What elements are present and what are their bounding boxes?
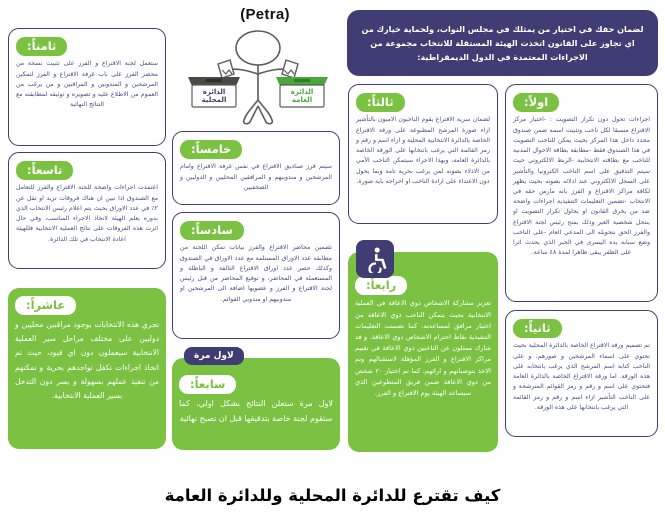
card-ninth[interactable]: تاسعاً: اعتمدت اجراءات واضحة للجنة الاقت…	[8, 152, 166, 269]
card-fifth[interactable]: خامساً: سيتم فرز صناديق الاقتراع في نفس …	[172, 131, 340, 205]
card-fifth-text: سيتم فرز صناديق الاقتراع في نفس غرفة الا…	[180, 162, 332, 193]
card-fifth-chip: خامساً:	[180, 140, 242, 159]
card-first-chip: اولاً:	[513, 93, 559, 112]
card-third-text: لضمان سرية الاقتراع يقوم الناخبون الاميو…	[356, 115, 490, 187]
card-seventh-text: لاول مرة ستعلن النتائج بشكل اولي، كما ست…	[179, 397, 333, 426]
card-sixth-text: تضمين محاضر الاقتراع والفرز بيانات تمكن …	[180, 243, 332, 304]
card-fifth-chip-row: خامساً:	[180, 138, 332, 159]
card-seventh-chip: سابعاً:	[179, 375, 236, 394]
header-banner: لضمان حقك في اختيار من يمثلك في مجلس الن…	[347, 10, 658, 76]
card-eighth-chip: ثامناً:	[16, 37, 67, 56]
card-ninth-text: اعتمدت اجراءات واضحة للجنة الاقتراع والف…	[16, 183, 158, 244]
card-sixth-chip-row: سادساً:	[180, 219, 332, 240]
first-time-badge: لاول مرة	[184, 347, 244, 365]
card-seventh-chip-row: سابعاً:	[179, 373, 333, 394]
footer-title-bar: كيف تقترع للدائرة المحلية وللدائرة العام…	[0, 470, 665, 520]
page-title: كيف تقترع للدائرة المحلية وللدائرة العام…	[165, 486, 501, 505]
voter-illustration: الدائرة المحلية الدائرة العامة	[178, 24, 338, 129]
card-tenth-chip-row: عاشراً:	[15, 294, 159, 315]
card-seventh[interactable]: سابعاً: لاول مرة ستعلن النتائج بشكل اولي…	[172, 358, 340, 450]
card-tenth[interactable]: عاشراً: تجري هذه الانتخابات بوجود مراقبي…	[8, 288, 166, 449]
wheelchair-icon	[356, 240, 394, 278]
card-eighth-chip-row: ثامناً:	[16, 35, 158, 56]
card-third-chip-row: ثالثاً:	[356, 91, 490, 112]
card-fourth-text: تعزيز مشاركة الاشخاص ذوي الاعاقة في العم…	[355, 298, 491, 399]
card-sixth-chip: سادساً:	[180, 221, 244, 240]
card-eighth-text: ستعمل لجنة الاقتراع و الفرز على تثبيت نس…	[16, 59, 158, 110]
ballot-box-general-label-line1: الدائرة	[291, 88, 314, 96]
card-third-chip: ثالثاً:	[356, 93, 405, 112]
card-third[interactable]: ثالثاً: لضمان سرية الاقتراع يقوم الناخبو…	[348, 84, 498, 224]
card-second-text: تم تصميم ورقة الاقتراع الخاصة بالدائرة ا…	[513, 341, 650, 413]
source-label: (Petra)	[205, 6, 325, 23]
ballot-box-local-label-line1: الدائرة	[203, 88, 226, 96]
card-second-chip-row: ثانياً:	[513, 317, 650, 338]
card-sixth[interactable]: سادساً: تضمين محاضر الاقتراع والفرز بيان…	[172, 212, 340, 339]
card-first-text: اجراءات تحول دون تكرار التصويت : -اختيار…	[513, 115, 650, 258]
ballot-box-general-label-line2: العامة	[292, 96, 312, 104]
card-fourth-chip: رابعاً:	[355, 276, 407, 295]
card-fourth[interactable]: رابعاً: تعزيز مشاركة الاشخاص ذوي الاعاقة…	[348, 252, 498, 452]
card-second[interactable]: ثانياً: تم تصميم ورقة الاقتراع الخاصة با…	[505, 310, 658, 437]
card-ninth-chip-row: تاسعاً:	[16, 159, 158, 180]
infographic-canvas: (Petra) لضمان حقك في اختيار من يمثلك في …	[0, 0, 665, 520]
card-first[interactable]: اولاً: اجراءات تحول دون تكرار التصويت : …	[505, 84, 658, 302]
card-tenth-text: تجري هذه الانتخابات بوجود مراقبين محليين…	[15, 318, 159, 402]
card-ninth-chip: تاسعاً:	[16, 161, 73, 180]
card-eighth[interactable]: ثامناً: ستعمل لجنة الاقتراع و الفرز على …	[8, 28, 166, 146]
card-second-chip: ثانياً:	[513, 319, 562, 338]
card-first-chip-row: اولاً:	[513, 91, 650, 112]
header-banner-text: لضمان حقك في اختيار من يمثلك في مجلس الن…	[359, 22, 646, 64]
card-tenth-chip: عاشراً:	[15, 296, 76, 315]
ballot-box-local-label-line2: المحلية	[202, 96, 227, 104]
